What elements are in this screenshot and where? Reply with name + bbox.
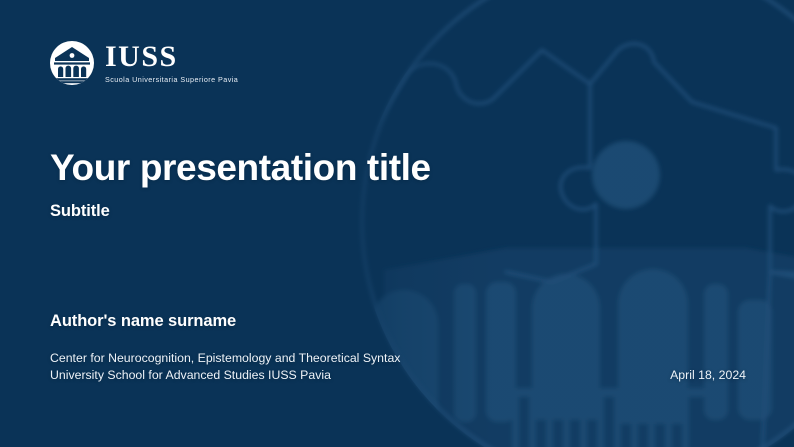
iuss-logo-text: IUSS Scuola Universitaria Superiore Pavi… (105, 42, 238, 83)
iuss-tagline: Scuola Universitaria Superiore Pavia (105, 76, 238, 83)
title-block: Your presentation title Subtitle (50, 148, 431, 221)
iuss-wordmark: IUSS (105, 42, 238, 72)
affiliation-line-2: University School for Advanced Studies I… (50, 367, 400, 384)
presentation-subtitle: Subtitle (50, 202, 431, 221)
affiliation-line-1: Center for Neurocognition, Epistemology … (50, 350, 400, 367)
presentation-title-slide: IUSS Scuola Universitaria Superiore Pavi… (0, 0, 794, 447)
iuss-building-circle-icon (48, 39, 96, 87)
author-affiliation: Center for Neurocognition, Epistemology … (50, 350, 400, 385)
author-block: Author's name surname Center for Neuroco… (50, 312, 400, 385)
iuss-logo: IUSS Scuola Universitaria Superiore Pavi… (48, 39, 238, 87)
presentation-date: April 18, 2024 (670, 368, 746, 382)
presentation-title: Your presentation title (50, 148, 431, 188)
author-name: Author's name surname (50, 312, 400, 331)
